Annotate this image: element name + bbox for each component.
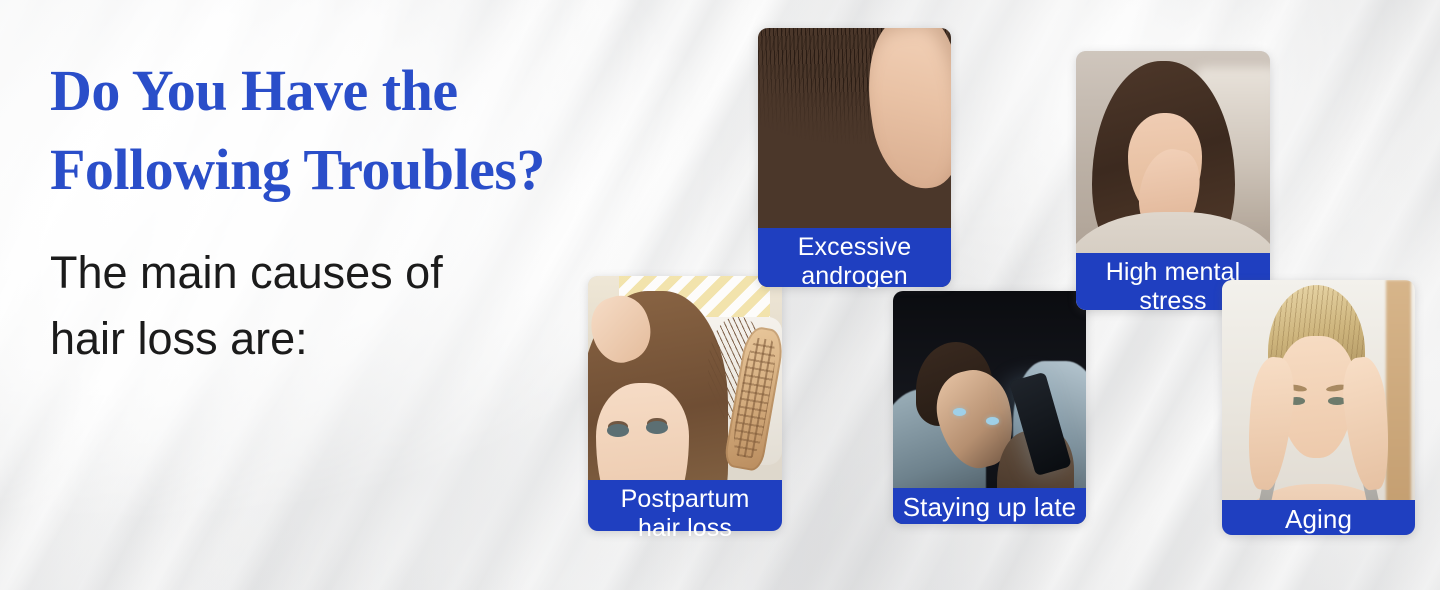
cause-card-caption: Aging (1222, 500, 1415, 535)
door-frame-shape (1386, 280, 1411, 535)
cause-card-postpartum-hair-loss[interactable]: Postpartum hair loss (588, 276, 782, 531)
left-eye-shape (607, 424, 628, 437)
cause-card-excessive-androgen[interactable]: Excessive androgen (758, 28, 951, 287)
left-hand-shape (1242, 355, 1298, 491)
older-woman-headache-illustration (1222, 280, 1415, 535)
cause-card-staying-up-late[interactable]: Staying up late (893, 291, 1086, 524)
hair-loss-causes-banner: Do You Have the Following Troubles? The … (0, 0, 1440, 590)
page-subtitle: The main causes of hair loss are: (50, 240, 650, 372)
cause-card-caption: Postpartum hair loss (588, 480, 782, 531)
right-eye-shape (646, 421, 667, 434)
cause-card-caption: Excessive androgen (758, 228, 951, 287)
right-eye-shape (986, 417, 1000, 425)
headline-text-block: Do You Have the Following Troubles? The … (50, 52, 650, 372)
cause-card-aging[interactable]: Aging (1222, 280, 1415, 535)
cause-card-high-mental-stress[interactable]: High mental stress (1076, 51, 1270, 310)
older-woman-headache-photo (1222, 280, 1415, 535)
cause-card-caption: Staying up late (893, 488, 1086, 524)
page-title: Do You Have the Following Troubles? (50, 52, 650, 210)
left-eye-shape (953, 408, 967, 416)
